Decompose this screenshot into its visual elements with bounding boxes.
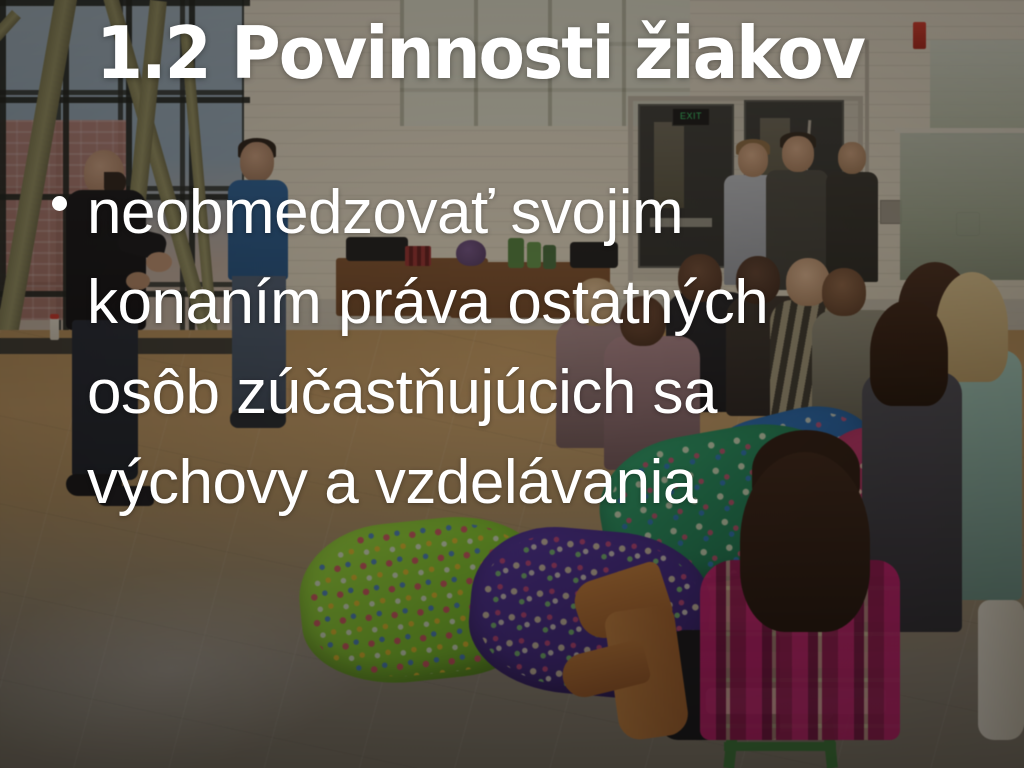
fire-alarm-icon [913, 22, 926, 49]
bullet-point-marker [52, 196, 67, 211]
white-boot [978, 600, 1024, 740]
presentation-slide: EXIT [0, 0, 1024, 768]
bullet-point-text: neobmedzovať svojim konaním práva ostatn… [87, 168, 877, 528]
exit-sign: EXIT [672, 108, 710, 126]
slide-title: 1.2 Povinnosti žiakov [96, 17, 864, 89]
stool-rung [724, 742, 836, 751]
partition-rail [895, 128, 1024, 133]
standing-man-head [782, 136, 814, 172]
wall-partition-upper [930, 40, 1024, 135]
bullet-list: neobmedzovať svojim konaním práva ostatn… [52, 168, 952, 528]
